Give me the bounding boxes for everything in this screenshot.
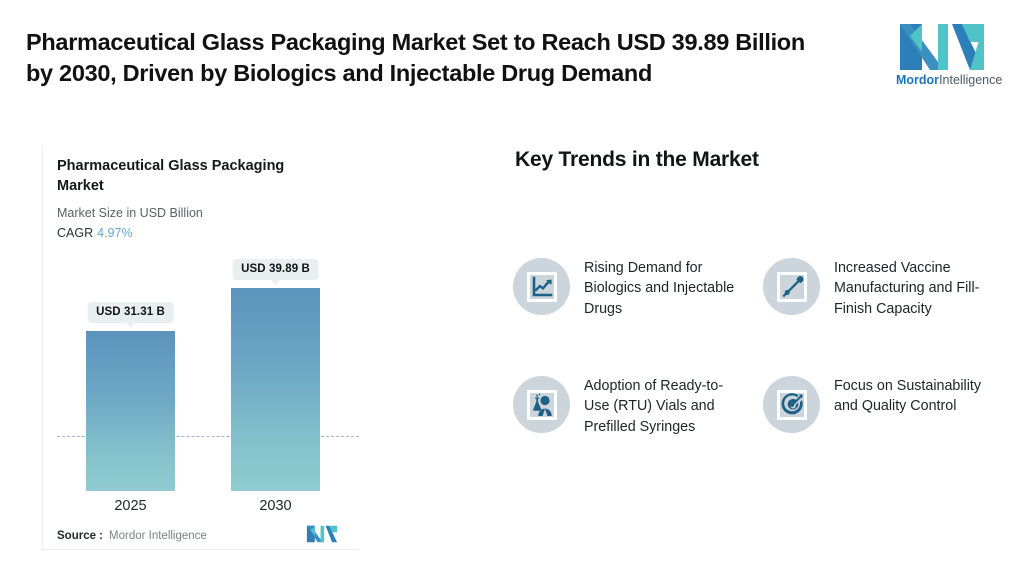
source-row: Source :Mordor Intelligence: [57, 526, 347, 546]
bar-value-label-2025: USD 31.31 B: [87, 302, 174, 323]
trend-item-4: Focus on Sustainability and Quality Cont…: [763, 376, 994, 433]
cagr-value: 4.97%: [97, 226, 132, 240]
mordor-logo-wordmark: MordorIntelligence: [896, 74, 1008, 87]
x-axis-label-2025: 2025: [86, 498, 175, 514]
source-value: Mordor Intelligence: [109, 530, 207, 542]
trend-label-2: Increased Vaccine Manufacturing and Fill…: [834, 258, 994, 319]
bar-group-2030: USD 39.89 B: [231, 288, 320, 491]
bar-value-label-2030: USD 39.89 B: [232, 259, 319, 280]
bar-2030: [231, 288, 320, 491]
target-bullseye-icon: [763, 376, 820, 433]
x-axis-label-2030: 2030: [231, 498, 320, 514]
trend-label-3: Adoption of Ready-to-Use (RTU) Vials and…: [584, 376, 736, 437]
mordor-logo-mark: [896, 22, 988, 72]
chart-title: Pharmaceutical Glass Packaging Market: [57, 157, 322, 196]
scientist-flask-icon: [513, 376, 570, 433]
cagr-label: CAGR: [57, 226, 93, 240]
pipette-dropper-icon: [763, 258, 820, 315]
trend-item-3: Adoption of Ready-to-Use (RTU) Vials and…: [513, 376, 736, 437]
bar-chart-plot: USD 31.31 B USD 39.89 B: [43, 256, 359, 491]
logo-word-intelligence: Intelligence: [939, 73, 1002, 87]
key-trends-grid: Rising Demand for Biologics and Injectab…: [513, 258, 1013, 498]
trend-label-1: Rising Demand for Biologics and Injectab…: [584, 258, 736, 319]
chart-subtitle: Market Size in USD Billion: [57, 206, 203, 220]
market-size-chart-card: Pharmaceutical Glass Packaging Market Ma…: [42, 146, 358, 550]
source-label: Source :: [57, 530, 103, 542]
page-title: Pharmaceutical Glass Packaging Market Se…: [26, 27, 816, 90]
bar-group-2025: USD 31.31 B: [86, 331, 175, 491]
mordor-intelligence-logo: MordorIntelligence: [896, 22, 1008, 94]
line-chart-up-icon: [513, 258, 570, 315]
trend-item-2: Increased Vaccine Manufacturing and Fill…: [763, 258, 994, 319]
trend-item-1: Rising Demand for Biologics and Injectab…: [513, 258, 736, 319]
cagr-row: CAGR4.97%: [57, 226, 133, 240]
bar-2025: [86, 331, 175, 491]
trend-label-4: Focus on Sustainability and Quality Cont…: [834, 376, 994, 417]
key-trends-heading: Key Trends in the Market: [515, 148, 759, 172]
header: Pharmaceutical Glass Packaging Market Se…: [0, 0, 1032, 118]
logo-word-mordor: Mordor: [896, 73, 939, 87]
mordor-logo-mark-small: [305, 525, 339, 543]
